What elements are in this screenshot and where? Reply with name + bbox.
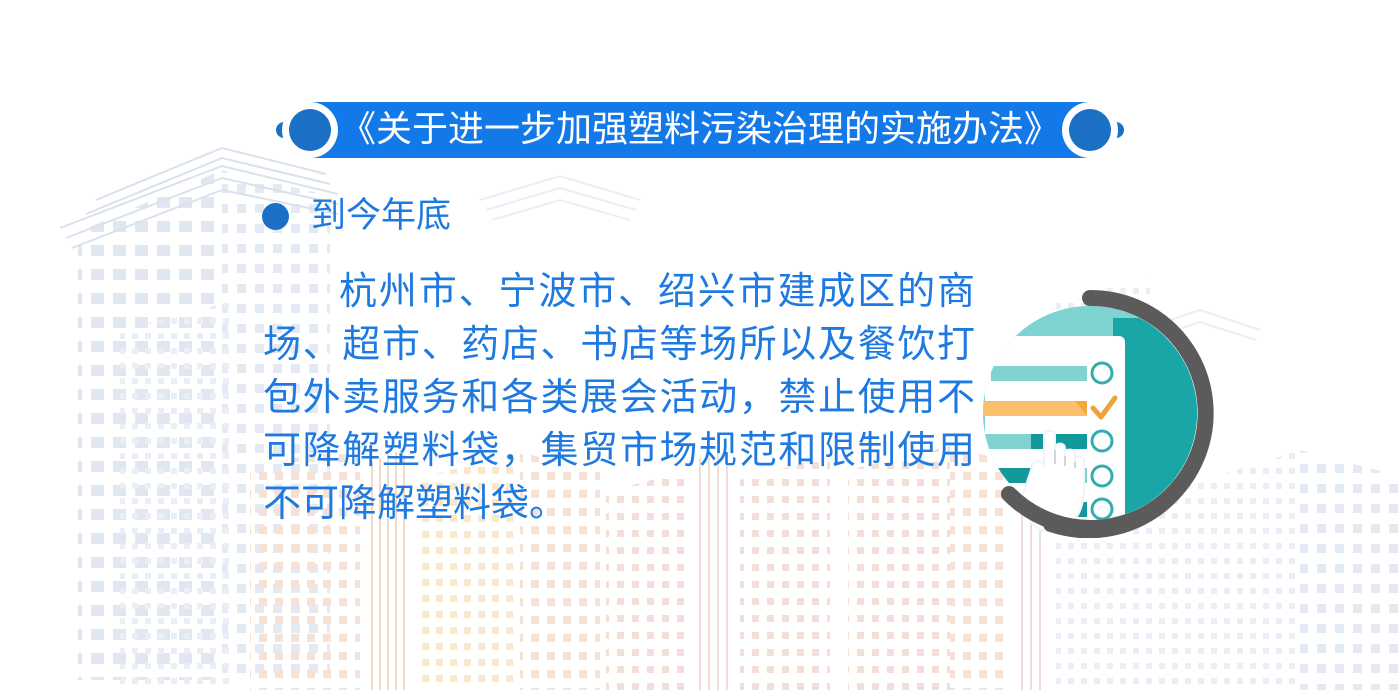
pavilion-lines xyxy=(480,176,640,220)
page-title: 《关于进一步加强塑料污染治理的实施办法》 xyxy=(340,112,1060,148)
checklist-row-bar-1 xyxy=(991,366,1087,381)
bullet-icon xyxy=(262,203,289,230)
checklist-circle-illustration xyxy=(965,288,1215,538)
subheading: 到今年底 xyxy=(262,199,451,234)
banner-body: 《关于进一步加强塑料污染治理的实施办法》 xyxy=(310,102,1090,158)
subheading-label: 到今年底 xyxy=(311,199,451,234)
slide-canvas: 《关于进一步加强塑料污染治理的实施办法》 到今年底 杭州市、宁波市、绍兴市建成区… xyxy=(0,0,1400,700)
decorative-dot-left-large xyxy=(289,109,331,151)
body-paragraph: 杭州市、宁波市、绍兴市建成区的商场、超市、药店、书店等场所以及餐饮打包外卖服务和… xyxy=(263,265,975,530)
checklist-row-bar-2 xyxy=(973,401,1087,416)
banner-wrapper: 《关于进一步加强塑料污染治理的实施办法》 xyxy=(310,100,1090,160)
building-left-second xyxy=(120,300,236,690)
building-right-main xyxy=(1186,450,1400,690)
decorative-dot-right-large xyxy=(1069,109,1111,151)
title-banner: 《关于进一步加强塑料污染治理的实施办法》 xyxy=(0,96,1400,164)
